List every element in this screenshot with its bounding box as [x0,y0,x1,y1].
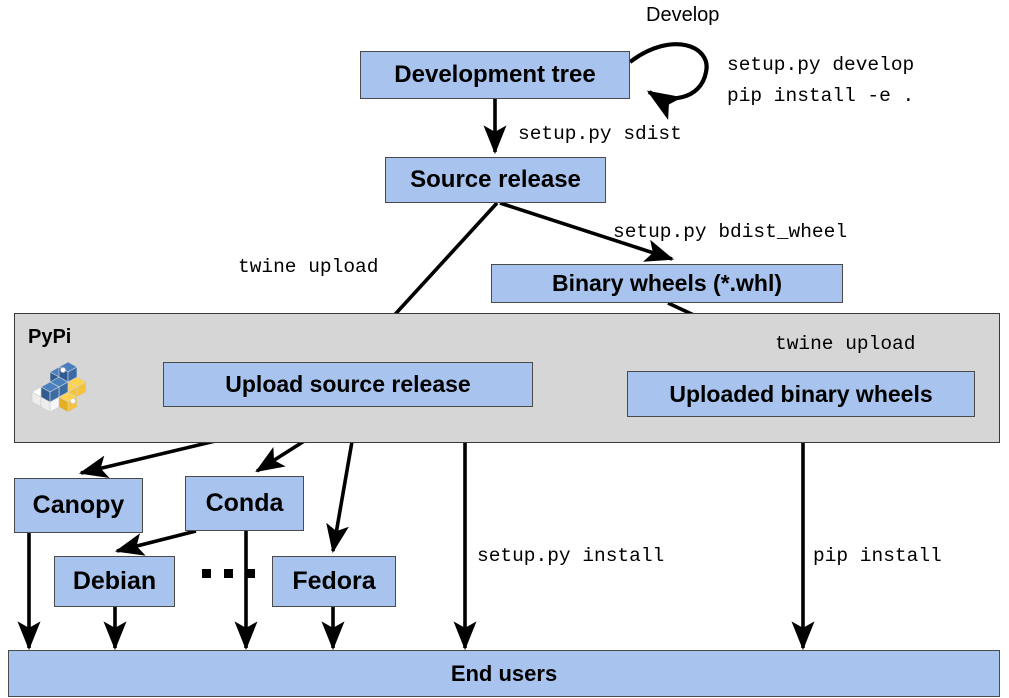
node-label: Canopy [33,491,125,520]
node-fedora[interactable]: Fedora [272,556,396,607]
edge-label-twine-upload-source: twine upload [238,256,378,278]
node-label: Conda [206,489,284,518]
edge-label-setup-py-install: setup.py install [477,545,664,567]
edge-label-setup-py-sdist: setup.py sdist [518,123,682,145]
edge-label-twine-upload-wheels: twine upload [775,333,915,355]
edge-label-develop: Develop [646,4,719,27]
node-conda[interactable]: Conda [185,476,304,531]
node-label: Uploaded binary wheels [669,381,932,408]
edge-label-pip-install-editable: pip install -e . [727,85,914,107]
pypi-group-label: PyPi [28,326,71,349]
node-source-release[interactable]: Source release [385,157,606,203]
ellipsis-dot [224,569,233,578]
ellipsis-dot [202,569,211,578]
node-label: Binary wheels (*.whl) [552,270,782,297]
node-end-users[interactable]: End users [8,650,1000,697]
node-development-tree[interactable]: Development tree [360,51,630,99]
node-label: Development tree [394,61,595,89]
node-label: Upload source release [225,371,470,398]
node-binary-wheels[interactable]: Binary wheels (*.whl) [491,264,843,303]
node-debian[interactable]: Debian [54,556,175,607]
edge-label-setup-py-bdist-wheel: setup.py bdist_wheel [613,221,847,243]
edge-development-tree-self-loop [630,44,707,98]
node-label: Fedora [292,567,375,596]
node-label: End users [451,661,557,687]
edge-label-pip-install: pip install [813,545,942,567]
node-canopy[interactable]: Canopy [14,478,143,533]
packaging-flow-diagram: PyPi [0,0,1009,698]
node-label: Source release [410,166,581,194]
node-uploaded-binary-wheels[interactable]: Uploaded binary wheels [627,371,975,417]
node-upload-source-release[interactable]: Upload source release [163,362,533,407]
more-distros-ellipsis [202,569,255,578]
node-label: Debian [73,567,156,596]
ellipsis-dot [246,569,255,578]
pypi-python-cubes-logo [30,356,88,417]
edge-conda-to-debian [117,531,196,551]
edge-label-setup-py-develop: setup.py develop [727,54,914,76]
